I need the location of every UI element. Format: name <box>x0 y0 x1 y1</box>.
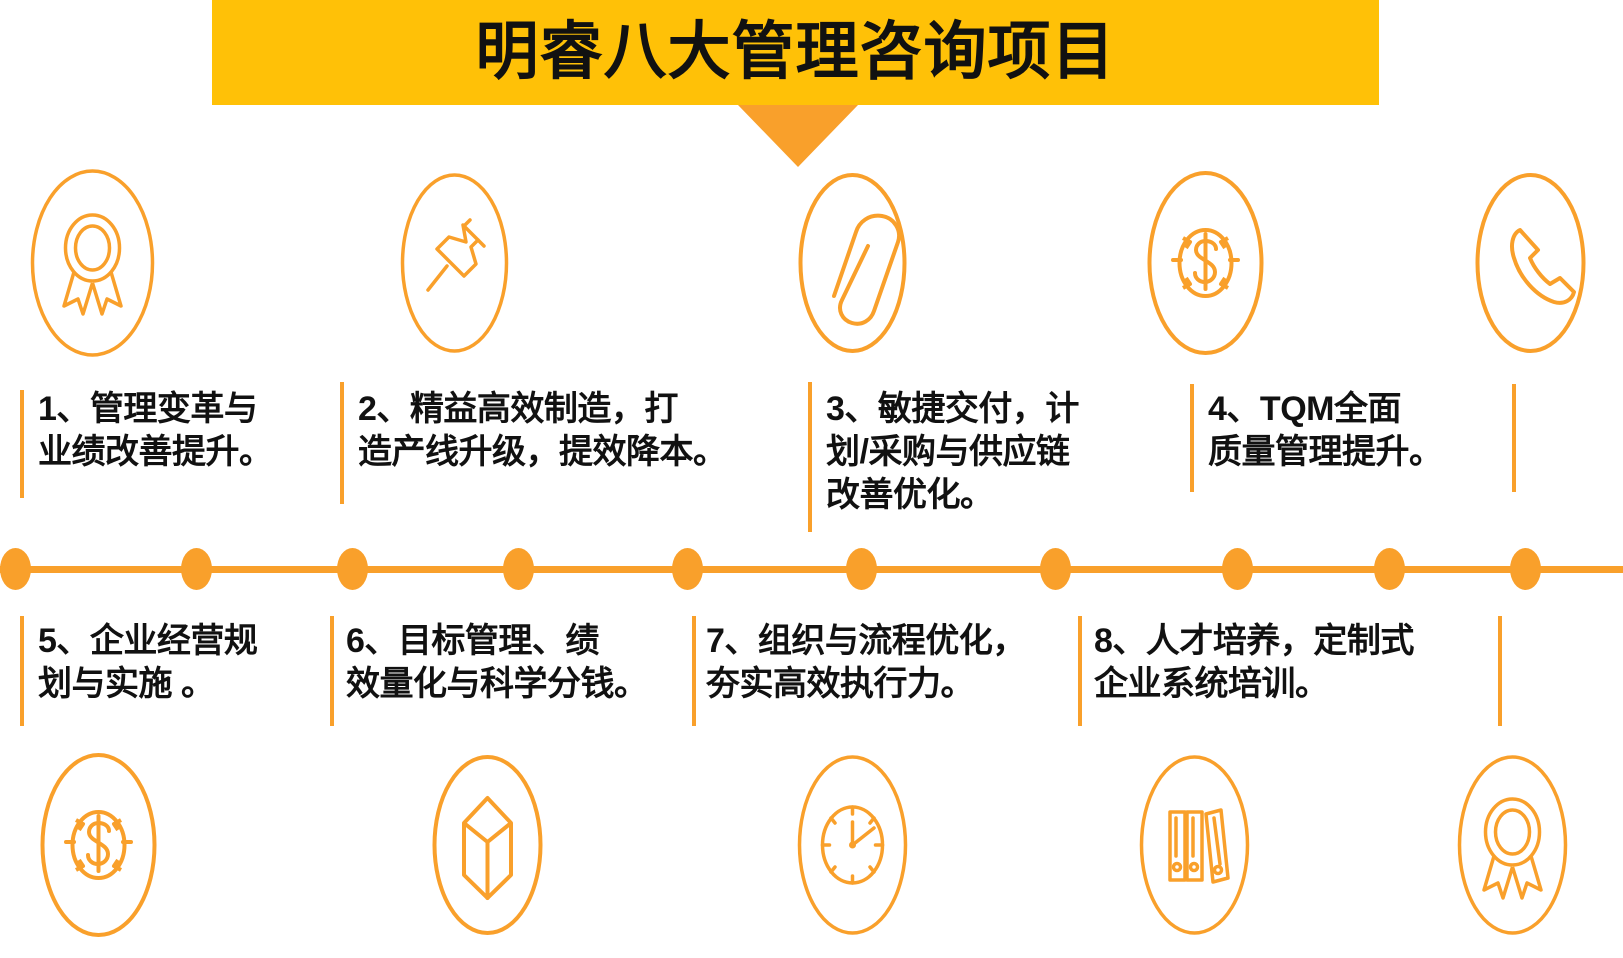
item-8-line1: 人才培养，定制式 <box>1146 622 1414 660</box>
item-7-line2: 夯实高效执行力。 <box>706 663 1082 706</box>
divider-bar-8 <box>692 616 696 726</box>
icon-oval-10-award-ribbon-icon <box>1450 750 1575 940</box>
item-2-text: 2、精益高效制造，打 造产线升级，提效降本。 <box>358 388 808 474</box>
item-4-text: 4、TQM全面 质量管理提升。 <box>1208 388 1508 474</box>
item-1-line2: 业绩改善提升。 <box>38 431 328 474</box>
item-3-line2: 划/采购与供应链 <box>826 431 1186 474</box>
item-5-number: 5、 <box>38 622 90 660</box>
item-7-line1: 组织与流程优化， <box>758 622 1026 660</box>
icon-oval-8-clock-icon <box>790 750 915 940</box>
timeline-dot-8 <box>1222 548 1253 590</box>
icon-oval-1-award-ribbon-icon <box>30 168 155 358</box>
divider-bar-10 <box>1498 616 1502 726</box>
item-3-line3: 改善优化。 <box>826 474 1186 517</box>
timeline-dot-7 <box>1040 548 1071 590</box>
item-8-line2: 企业系统培训。 <box>1094 663 1494 706</box>
item-4-line2: 质量管理提升。 <box>1208 431 1508 474</box>
page-title: 明睿八大管理咨询项目 <box>476 21 1116 84</box>
divider-bar-2 <box>340 382 344 504</box>
divider-bar-7 <box>330 616 334 726</box>
divider-bar-1 <box>20 390 24 498</box>
item-3-number: 3、 <box>826 390 878 428</box>
icon-oval-5-phone-icon <box>1468 168 1593 358</box>
timeline-dot-5 <box>672 548 703 590</box>
divider-bar-5 <box>1512 384 1516 492</box>
divider-bar-6 <box>20 616 24 726</box>
icon-oval-2-push-pin-icon <box>392 168 517 358</box>
item-1-number: 1、 <box>38 390 90 428</box>
item-2-line1: 精益高效制造，打 <box>410 390 678 428</box>
item-4-number: 4、 <box>1208 390 1260 428</box>
icon-oval-6-dollar-coin-icon <box>36 750 161 940</box>
item-6-number: 6、 <box>346 622 398 660</box>
banner-arrow-icon <box>738 105 858 167</box>
icon-oval-7-box-3d-icon <box>425 750 550 940</box>
item-6-text: 6、目标管理、绩 效量化与科学分钱。 <box>346 620 692 706</box>
timeline-dot-1 <box>0 548 31 590</box>
timeline-dot-2 <box>181 548 212 590</box>
divider-bar-3 <box>808 382 812 532</box>
item-8-number: 8、 <box>1094 622 1146 660</box>
item-5-line1: 企业经营规 <box>90 622 258 660</box>
timeline-dot-6 <box>846 548 877 590</box>
icon-oval-9-binders-icon <box>1132 750 1257 940</box>
item-6-line2: 效量化与科学分钱。 <box>346 663 692 706</box>
item-7-number: 7、 <box>706 622 758 660</box>
item-2-number: 2、 <box>358 390 410 428</box>
item-5-text: 5、企业经营规 划与实施 。 <box>38 620 328 706</box>
item-2-line2: 造产线升级，提效降本。 <box>358 431 808 474</box>
item-3-text: 3、敏捷交付，计 划/采购与供应链 改善优化。 <box>826 388 1186 516</box>
divider-bar-4 <box>1190 384 1194 492</box>
infographic-canvas: 明睿八大管理咨询项目 <box>0 0 1623 958</box>
icon-oval-3-paperclip-icon <box>790 168 915 358</box>
timeline-dot-10 <box>1510 548 1541 590</box>
item-8-text: 8、人才培养，定制式 企业系统培训。 <box>1094 620 1494 706</box>
timeline-dot-4 <box>503 548 534 590</box>
item-1-line1: 管理变革与 <box>90 390 258 428</box>
timeline-dot-9 <box>1374 548 1405 590</box>
icon-oval-4-dollar-coin-icon <box>1143 168 1268 358</box>
item-1-text: 1、管理变革与 业绩改善提升。 <box>38 388 328 474</box>
item-5-line2: 划与实施 。 <box>38 663 328 706</box>
timeline-dot-3 <box>337 548 368 590</box>
item-4-line1: TQM全面 <box>1260 390 1401 428</box>
item-3-line1: 敏捷交付，计 <box>878 390 1079 428</box>
title-banner: 明睿八大管理咨询项目 <box>212 0 1379 105</box>
item-7-text: 7、组织与流程优化， 夯实高效执行力。 <box>706 620 1082 706</box>
item-6-line1: 目标管理、绩 <box>398 622 599 660</box>
